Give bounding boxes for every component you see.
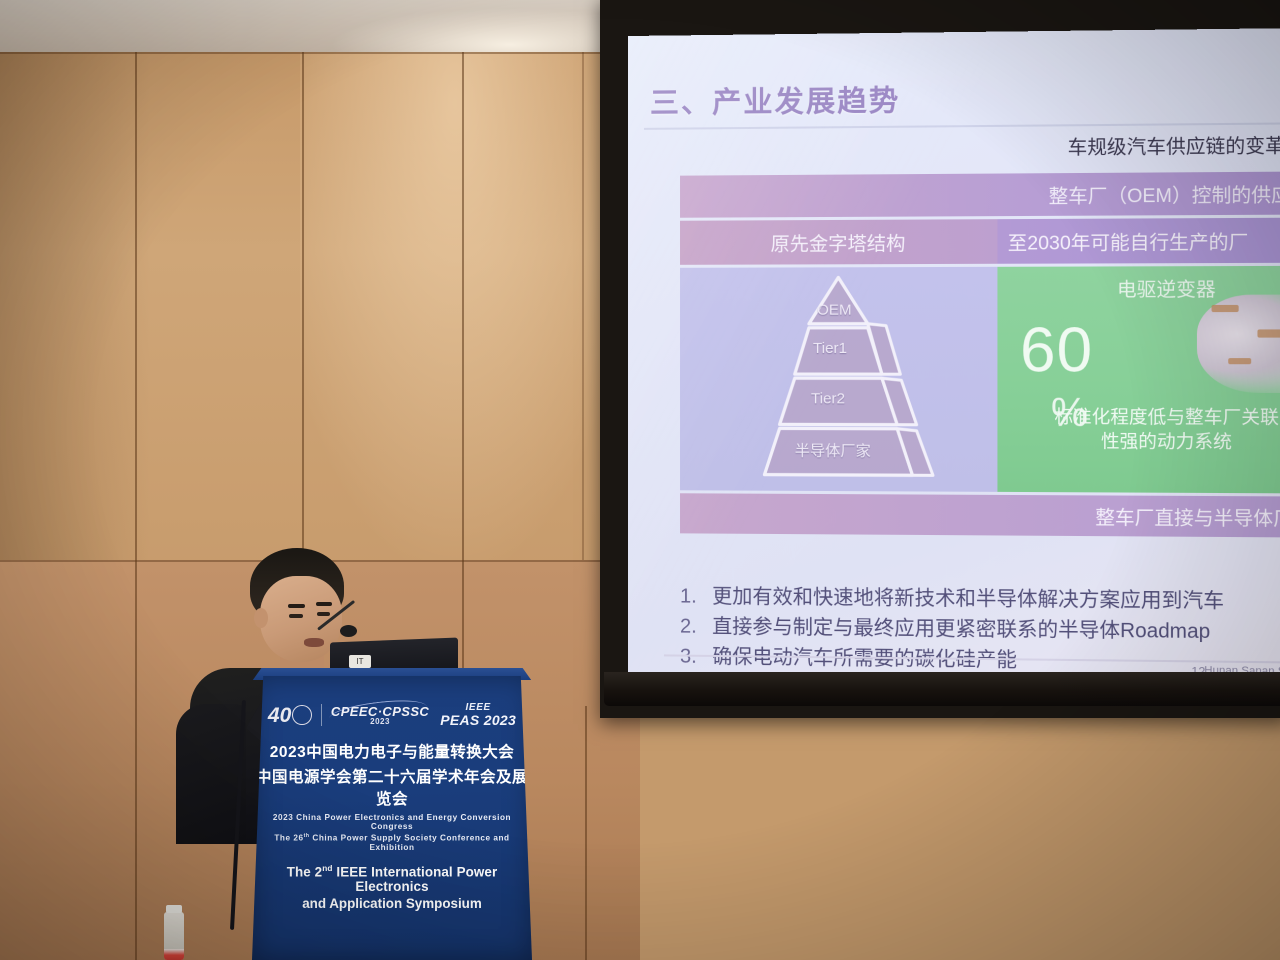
microphone-head — [340, 625, 357, 637]
cpeec-cpssc-logo: CPEEC·CPSSC 2023 — [331, 704, 429, 726]
green-panel-caption: 标准化程度低与整车厂关联 性强的动力系统 — [997, 405, 1280, 456]
en-big-1-a: The 2 — [287, 864, 322, 879]
caption-line-2: 性强的动力系统 — [997, 429, 1280, 455]
podium-en-big-1: The 2nd IEEE International Power Electro… — [252, 863, 532, 894]
podium-cn-title-1: 2023中国电力电子与能量转换大会 — [252, 740, 532, 762]
column-header-left: 原先金字塔结构 — [680, 219, 997, 265]
table-body-row: OEM Tier1 Tier2 半导体厂家 电驱逆变器 — [680, 266, 1280, 494]
logo-divider — [321, 704, 322, 726]
speaker-brow — [316, 602, 332, 606]
bottle-cap — [166, 905, 182, 913]
wall-seam-horizontal — [0, 52, 640, 54]
bottle-label — [164, 949, 184, 960]
anniversary-40-logo: 40 — [268, 703, 312, 727]
podium-logo-row: 40 CPEEC·CPSSC 2023 IEEE PEAS 2023 — [252, 702, 532, 728]
slide-title: 三、产业发展趋势 — [650, 77, 900, 122]
podium-banner: 40 CPEEC·CPSSC 2023 IEEE PEAS 2023 2023中… — [252, 676, 532, 960]
list-item-number: 1. — [680, 581, 702, 611]
title-divider — [644, 122, 1280, 130]
pyramid-diagram: OEM Tier1 Tier2 半导体厂家 — [698, 273, 980, 488]
speaker-eye — [317, 612, 330, 616]
list-item-number: 2. — [680, 611, 702, 641]
water-bottle — [162, 905, 186, 960]
pyramid-label-semiconductor: 半导体厂家 — [795, 440, 871, 461]
pyramid-label-oem: OEM — [817, 302, 852, 319]
podium-cn-title-2: 中国电源学会第二十六届学术年会及展览会 — [252, 765, 532, 809]
speaker-brow — [288, 604, 305, 608]
speaker-mouth — [304, 638, 324, 647]
column-header-right: 至2030年可能自行生产的厂 — [997, 217, 1280, 263]
ceiling-light-glow — [330, 8, 630, 54]
inverter-image — [1197, 294, 1280, 393]
table-banner-bottom: 整车厂直接与半导体厂家对 — [680, 493, 1280, 537]
speaker-eye — [289, 614, 303, 618]
green-panel-value: 60 — [1020, 319, 1093, 382]
pyramid-label-tier1: Tier1 — [813, 340, 847, 357]
banner-top-text: 整车厂（OEM）控制的供应价值 — [1049, 179, 1280, 208]
ieee-line2: PEAS 2023 — [440, 712, 516, 728]
slide-subtitle: 车规级汽车供应链的变革—" — [1068, 130, 1280, 159]
green-panel: 电驱逆变器 60 % 标准化程度低与整车厂关联 性强的动力系统 — [997, 266, 1280, 494]
en-big-1-b: IEEE International Power Electronics — [333, 864, 498, 894]
caption-line-1: 标准化程度低与整车厂关联 — [997, 405, 1280, 431]
wall-light-pool — [300, 52, 645, 572]
banner-bottom-text: 整车厂直接与半导体厂家对 — [1095, 502, 1280, 531]
wall-seam — [135, 560, 137, 960]
anniversary-number: 40 — [268, 705, 291, 726]
table-header-row: 原先金字塔结构 至2030年可能自行生产的厂 — [680, 217, 1280, 264]
projected-slide: 三、产业发展趋势 车规级汽车供应链的变革—" 整车厂（OEM）控制的供应价值 原… — [628, 28, 1280, 680]
list-item-text: 更加有效和快速地将新技术和半导体解决方案应用到汽车 — [712, 582, 1224, 617]
ieee-peas-logo: IEEE PEAS 2023 — [440, 702, 516, 728]
en-small-2-b: China Power Supply Society Conference an… — [310, 834, 510, 852]
podium-en-big-2: and Application Symposium — [252, 896, 532, 911]
en-small-2-a: The 26 — [274, 834, 303, 843]
pyramid-cell: OEM Tier1 Tier2 半导体厂家 — [680, 267, 997, 492]
globe-icon — [292, 705, 312, 725]
en-big-1-sup: nd — [322, 863, 332, 873]
pyramid-label-tier2: Tier2 — [811, 390, 845, 407]
wall-seam — [585, 706, 587, 960]
slide-numbered-list: 1. 更加有效和快速地将新技术和半导体解决方案应用到汽车 2. 直接参与制定与最… — [680, 581, 1280, 679]
laptop-badge: IT — [349, 655, 371, 668]
podium-en-small-1: 2023 China Power Electronics and Energy … — [252, 813, 532, 831]
podium-en-small-2: The 26th China Power Supply Society Conf… — [252, 833, 532, 852]
presentation-scene: 三、产业发展趋势 车规级汽车供应链的变革—" 整车厂（OEM）控制的供应价值 原… — [0, 0, 1280, 960]
speaker-ear — [254, 608, 268, 628]
screen-bottom-bar — [604, 672, 1280, 706]
supply-chain-table: 整车厂（OEM）控制的供应价值 原先金字塔结构 至2030年可能自行生产的厂 — [680, 171, 1280, 537]
table-banner-top: 整车厂（OEM）控制的供应价值 — [680, 171, 1280, 217]
